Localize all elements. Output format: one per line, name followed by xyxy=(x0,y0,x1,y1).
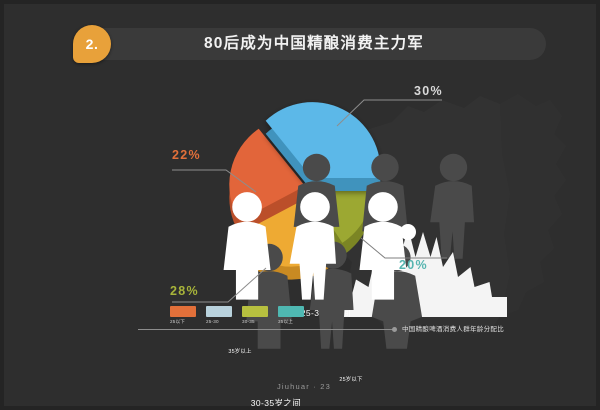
legend-label: 25-30 xyxy=(206,319,236,324)
callout-value: 30% xyxy=(414,84,443,98)
callout-25-30: 30% xyxy=(334,84,444,130)
legend-swatch xyxy=(206,306,232,317)
callout-value: 22% xyxy=(172,148,201,162)
legend-item-25-30[interactable]: 25-30 xyxy=(206,306,236,324)
legend-item-over35[interactable]: 35以上 xyxy=(278,306,308,325)
legend-swatch xyxy=(242,306,268,317)
slice-label-text: 30-35岁之间 xyxy=(228,397,324,409)
legend-swatch xyxy=(278,306,304,317)
slide-canvas: 80后成为中国精酿消费主力军 2. xyxy=(0,0,600,410)
slide-header: 80后成为中国精酿消费主力军 2. xyxy=(82,28,546,60)
callout-30-35: 28% xyxy=(170,266,268,306)
legend-item-under25[interactable]: 25以下 xyxy=(170,306,200,325)
legend-swatch xyxy=(170,306,196,317)
legend-label: 30-35 xyxy=(242,319,272,324)
legend-label: 35以上 xyxy=(278,319,308,325)
slide-footer: Jiuhuar · 23 xyxy=(4,382,600,391)
section-number-label: 2. xyxy=(73,25,111,63)
callout-under25: 20% xyxy=(359,236,449,278)
callout-value: 28% xyxy=(170,284,199,298)
callout-value: 20% xyxy=(399,258,428,272)
page-title: 80后成为中国精酿消费主力军 xyxy=(82,28,546,60)
legend-item-30-35[interactable]: 30-35 xyxy=(242,306,272,324)
section-number-badge: 2. xyxy=(73,25,111,63)
caption-dot xyxy=(392,327,397,332)
legend-label: 25以下 xyxy=(170,319,200,325)
chart-caption: 中国精酿啤酒消费人群年龄分配比 xyxy=(402,323,504,333)
caption-divider xyxy=(138,329,394,330)
slice-label-text: 35岁以上 xyxy=(210,347,270,355)
callout-over35: 22% xyxy=(172,148,262,194)
